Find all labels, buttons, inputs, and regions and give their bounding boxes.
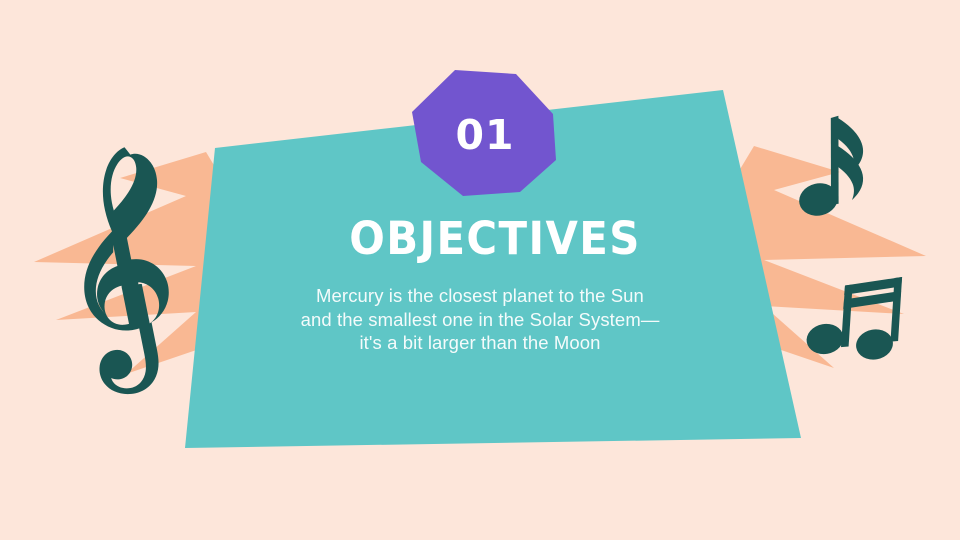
slide-artwork [0,0,960,540]
slide-canvas: 01 OBJECTIVES Mercury is the closest pla… [0,0,960,540]
